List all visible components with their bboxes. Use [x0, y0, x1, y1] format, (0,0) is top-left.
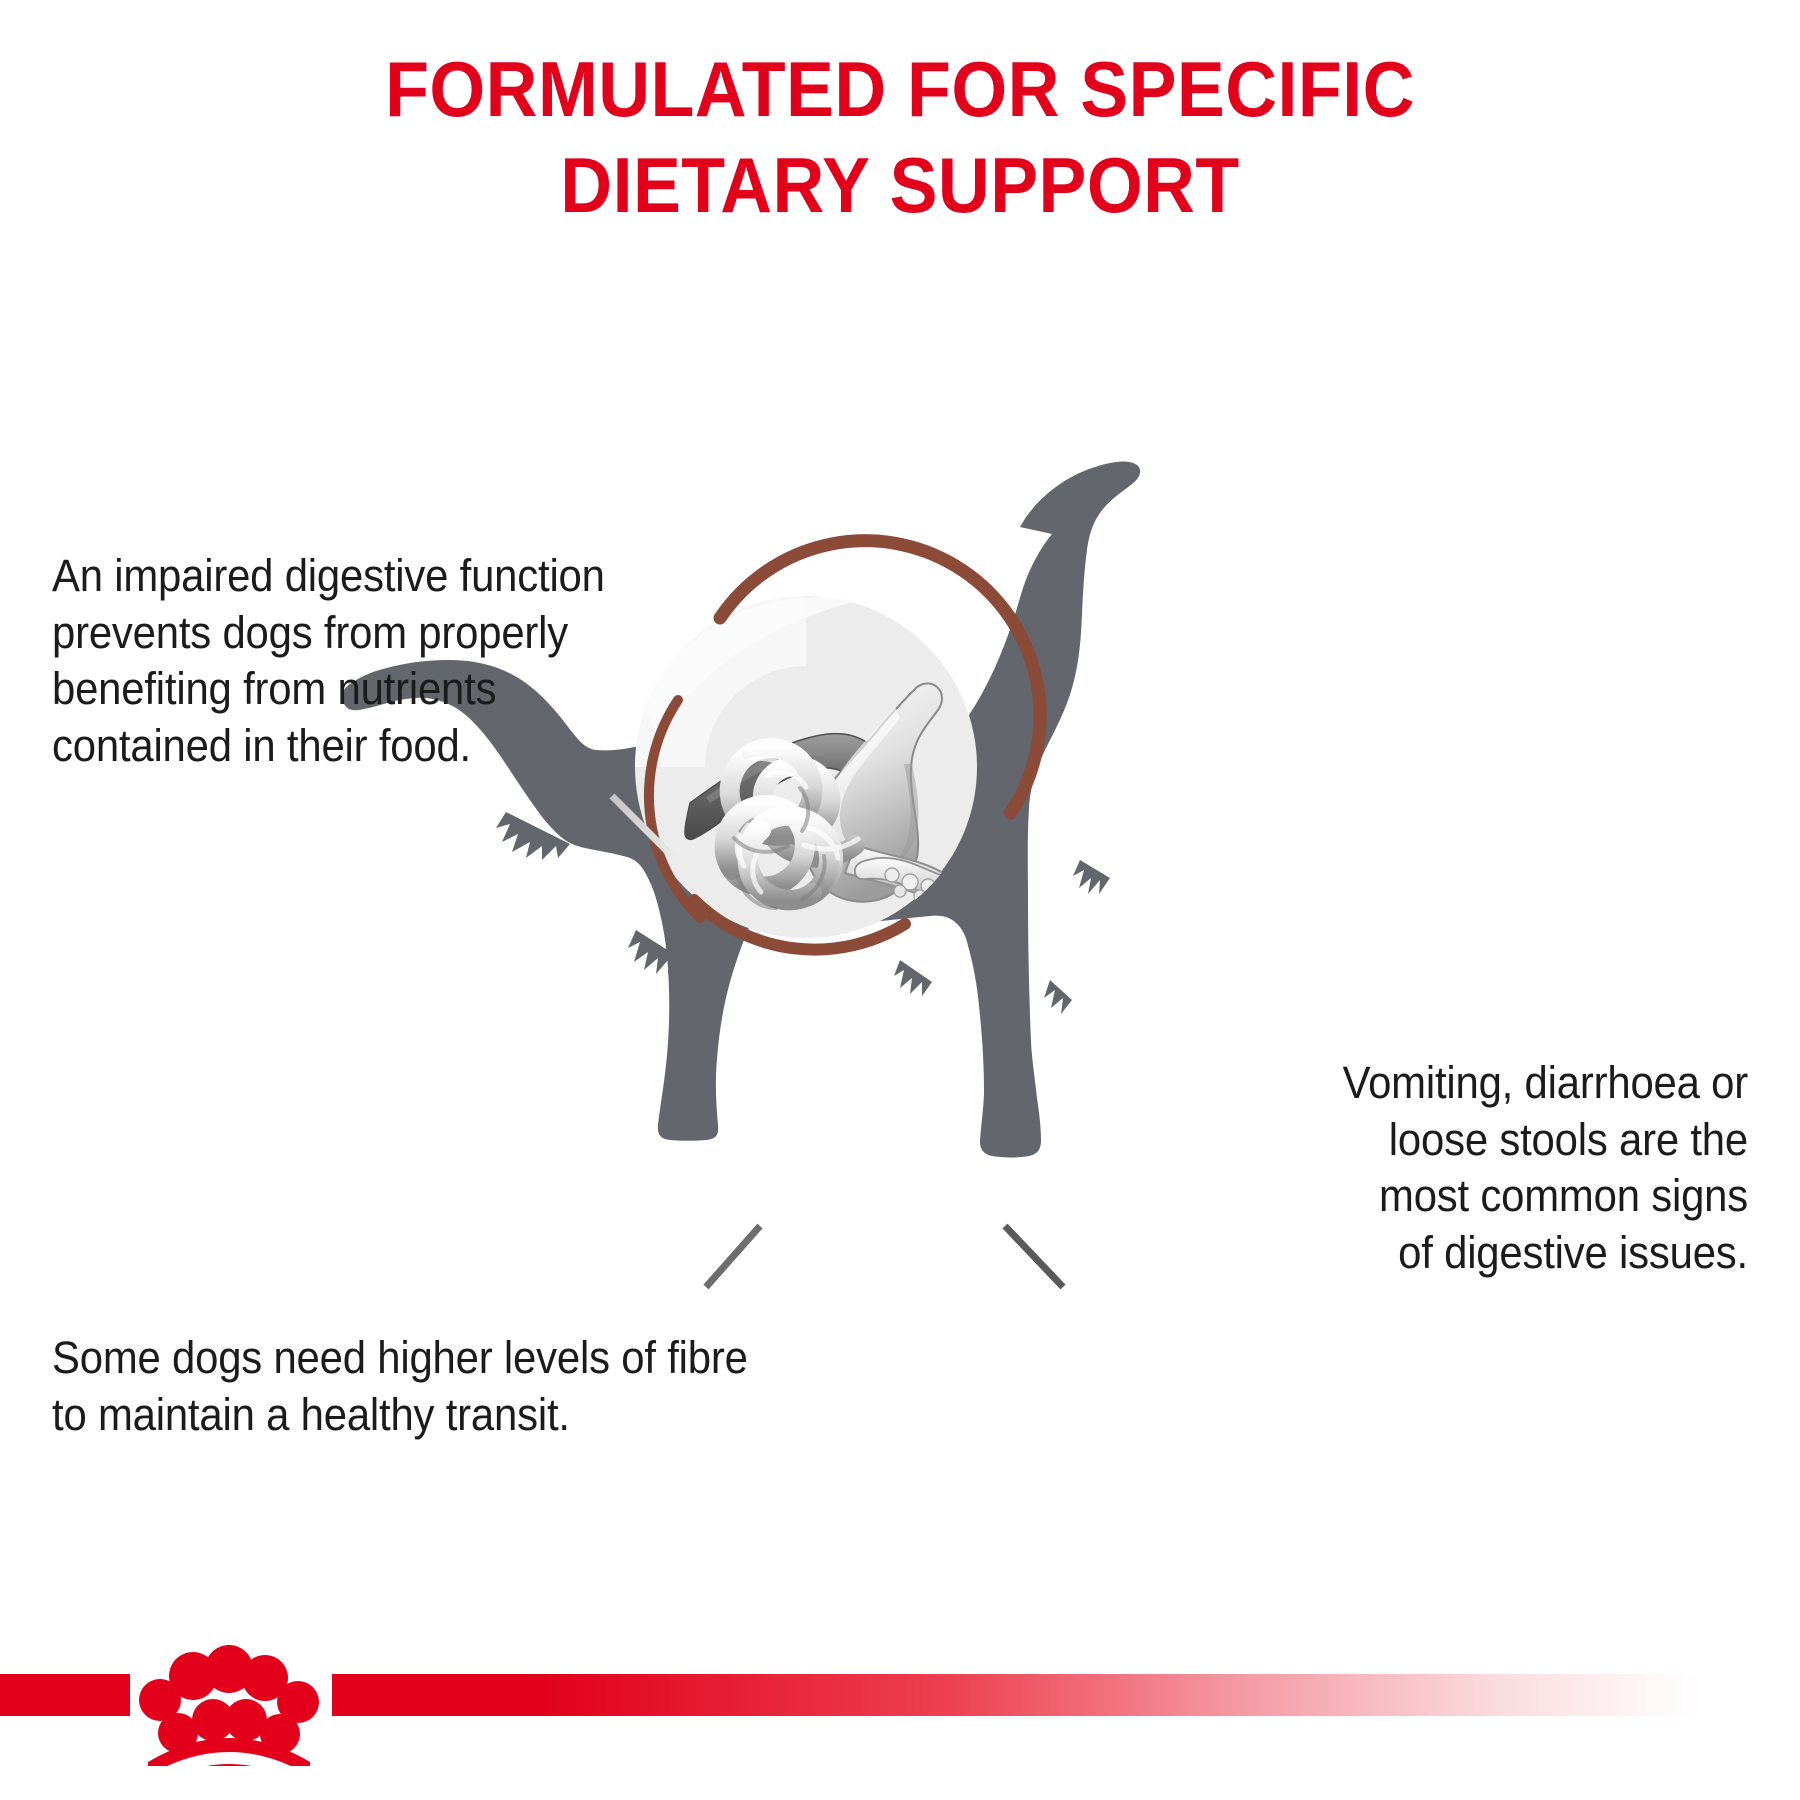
footer-bar-right-segment [332, 1674, 1800, 1716]
stomach-organ [805, 683, 957, 904]
small-intestine-organ [725, 748, 855, 900]
pancreas-organ [855, 858, 998, 907]
callout-impaired-digestion: An impaired digestive function prevents … [52, 548, 647, 775]
oesophagus-organ [685, 734, 885, 840]
small-intestine-highlights [739, 759, 858, 892]
connector-line-impaired [48, 796, 672, 856]
footer-bar-left-segment [0, 1674, 130, 1716]
callout-vomiting-diarrhoea: Vomiting, diarrhoea or loose stools are … [1246, 1055, 1748, 1282]
dog-fur-texture [496, 812, 1110, 1014]
page-title: FORMULATED FOR SPECIFIC DIETARY SUPPORT [72, 42, 1728, 234]
digestive-system-window [635, 477, 1095, 950]
small-intestine-shadows [734, 788, 825, 908]
illustration-stage [0, 0, 1800, 1800]
connector-line-fibre [48, 1226, 760, 1287]
digestive-organs-illustration [685, 683, 998, 908]
royal-canin-crown-logo [118, 1616, 328, 1766]
callout-fibre-transit: Some dogs need higher levels of fibre to… [52, 1330, 777, 1443]
